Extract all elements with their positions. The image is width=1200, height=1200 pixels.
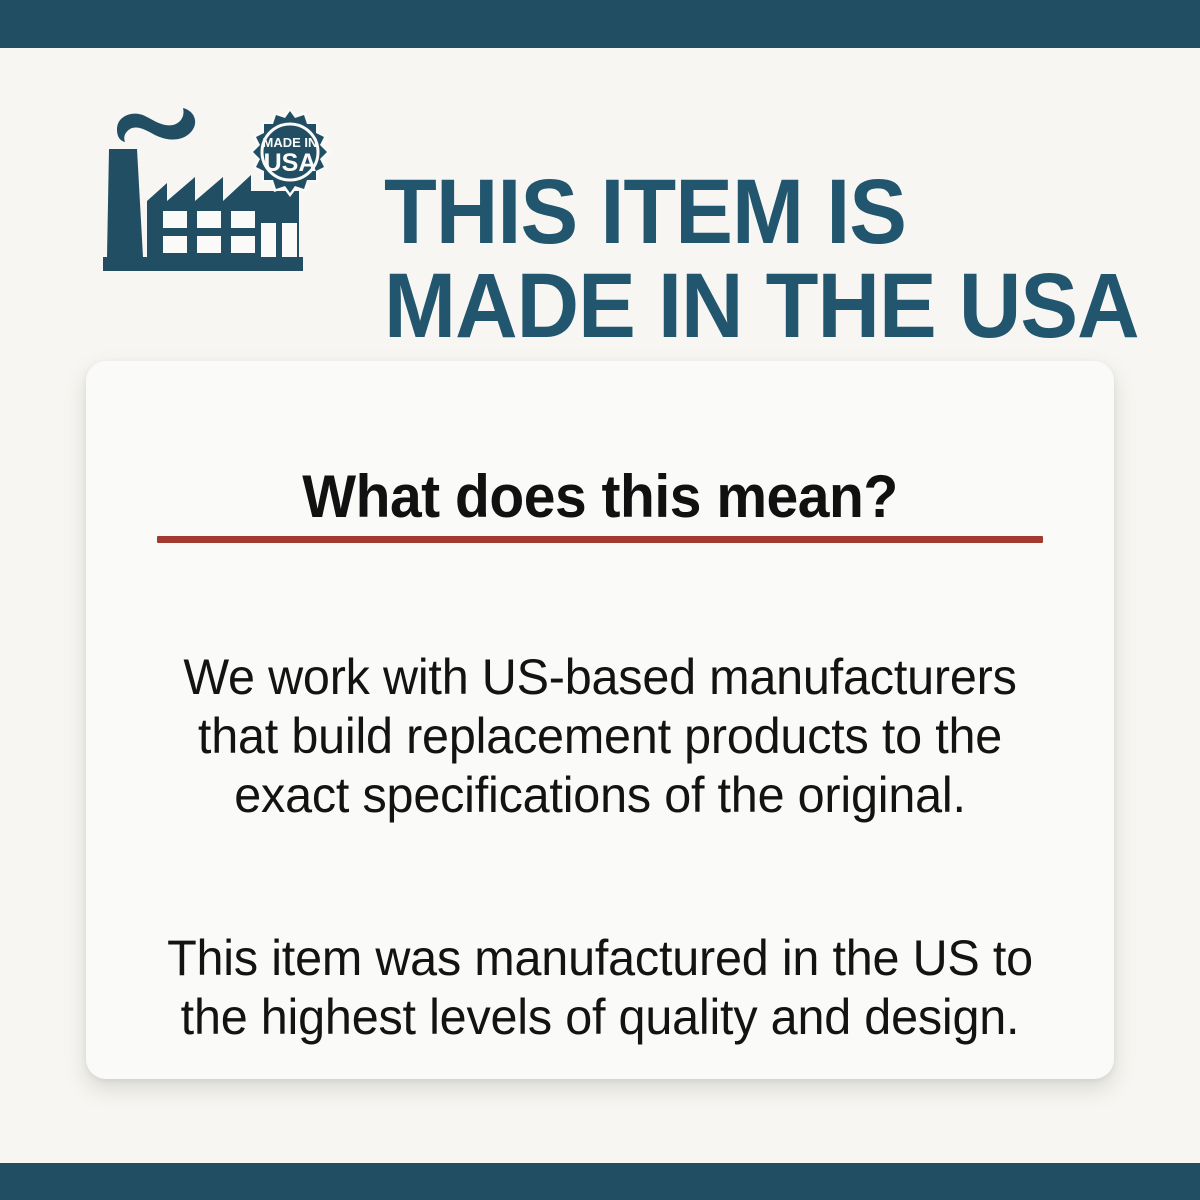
paragraph-line: exact specifications of the original. [140,766,1060,825]
top-accent-bar [0,0,1200,48]
badge-made-in-text: MADE IN [263,135,318,150]
badge-usa-text: USA [264,149,317,177]
paragraph-line: that build replacement products to the [140,707,1060,766]
bottom-accent-bar [0,1163,1200,1200]
card-title: What does this mean? [112,466,1089,528]
page-root: MADE IN USA THIS ITEM IS MADE IN THE USA… [0,0,1200,1200]
card-paragraph-1: We work with US-based manufacturers that… [140,648,1060,825]
header-banner: MADE IN USA THIS ITEM IS MADE IN THE USA [0,48,1200,348]
made-in-usa-logo: MADE IN USA [103,105,343,285]
paragraph-line: the highest levels of quality and design… [140,988,1060,1047]
explanation-card: What does this mean? We work with US-bas… [86,361,1114,1079]
headline-line-1: THIS ITEM IS [384,165,1117,259]
card-paragraph-2: This item was manufactured in the US to … [140,929,1060,1047]
paragraph-line: We work with US-based manufacturers [140,648,1060,707]
page-headline: THIS ITEM IS MADE IN THE USA [384,165,1117,353]
headline-line-2: MADE IN THE USA [384,259,1117,353]
title-divider [157,536,1043,543]
paragraph-line: This item was manufactured in the US to [140,929,1060,988]
